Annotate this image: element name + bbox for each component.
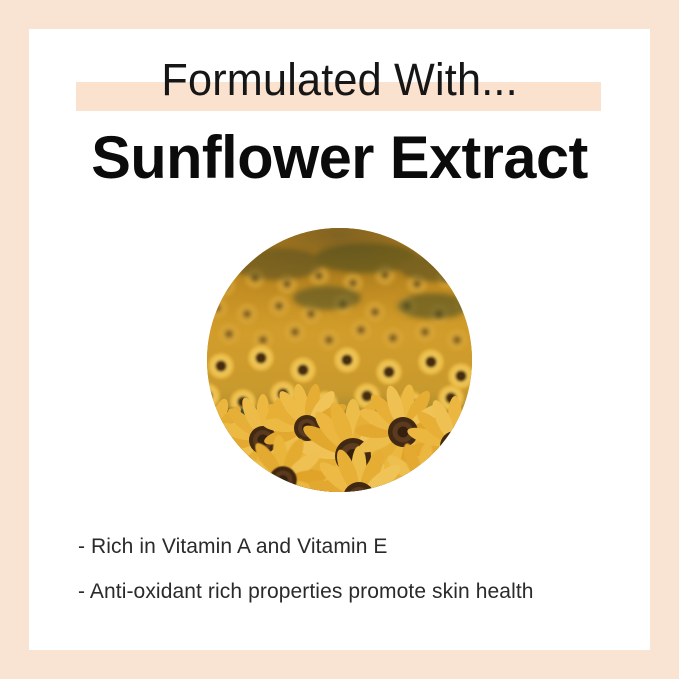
product-benefit-poster: Formulated With... Sunflower Extract bbox=[0, 0, 679, 679]
headline-area: Formulated With... Sunflower Extract bbox=[29, 29, 650, 219]
sunflower-field-photo bbox=[207, 228, 472, 492]
eyebrow-text: Formulated With... bbox=[161, 49, 517, 111]
benefit-list: - Rich in Vitamin A and Vitamin E - Anti… bbox=[78, 534, 638, 605]
eyebrow-wrap: Formulated With... bbox=[29, 49, 650, 111]
sunflower-field-illustration bbox=[207, 228, 472, 492]
list-item: - Rich in Vitamin A and Vitamin E bbox=[78, 534, 638, 560]
list-item: - Anti-oxidant rich properties promote s… bbox=[78, 579, 638, 605]
poster-inner-canvas: Formulated With... Sunflower Extract bbox=[29, 29, 650, 650]
page-title: Sunflower Extract bbox=[32, 121, 647, 195]
